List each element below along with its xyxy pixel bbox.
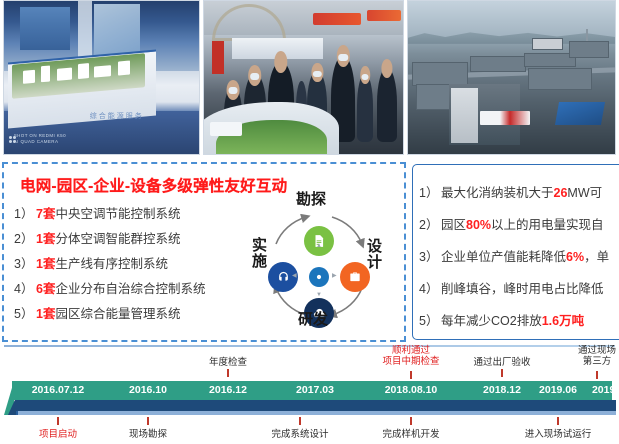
list-item-highlight: 1套: [36, 232, 55, 246]
list-item-text-pre: 园区: [441, 218, 466, 232]
list-item: 5）1套园区综合能量管理系统: [14, 302, 244, 327]
timeline-date: 2017.03: [296, 384, 334, 396]
cycle-label-top: 勘探: [296, 192, 326, 208]
list-item-highlight: 80%: [466, 218, 491, 232]
slide-canvas: 综合能源服务 SHOT ON REDMI K50AI QUAD CAMERA: [0, 0, 619, 444]
booth-sign-text: 综合能源服务: [90, 111, 144, 121]
node-briefcase-icon: [340, 262, 370, 292]
list-item-text-pre: 企业单位产值能耗降低: [441, 250, 566, 264]
timeline-label-below: 进入现场试运行: [525, 429, 592, 440]
timeline-bar-shadow-edge: [16, 411, 616, 415]
right-outlined-panel: 1）最大化消纳装机大于26MW可 2）园区80%以上的用电量实现自 3）企业单位…: [412, 164, 619, 340]
timeline-label-below: 现场勘探: [129, 429, 167, 440]
timeline-label-above: 顺利通过项目中期检查: [382, 345, 439, 367]
list-item-highlight: 7套: [36, 207, 55, 221]
list-item: 3）企业单位产值能耗降低6%，单: [419, 241, 609, 273]
list-item-highlight: 1.6万吨: [542, 314, 584, 328]
timeline-divider: [4, 345, 615, 347]
timeline-date: 2019.06: [539, 384, 577, 396]
list-item-text: 园区综合能量管理系统: [55, 307, 180, 321]
tick-left-icon: ◀: [292, 272, 297, 279]
timeline-date: 2018.08.10: [385, 384, 438, 396]
tick-right-icon: ▶: [332, 272, 337, 279]
timeline-label-below: 完成系统设计: [271, 429, 328, 440]
list-item-text-pre: 最大化消纳装机大于: [441, 186, 554, 200]
cycle-label-right: 设计: [367, 239, 382, 271]
timeline-date: 2016.10: [129, 384, 167, 396]
list-item-number: 3）: [14, 252, 36, 277]
list-item: 3）1套生产线有序控制系统: [14, 252, 244, 277]
timeline-date: 2019.1: [592, 384, 619, 396]
timeline-date: 2018.12: [483, 384, 521, 396]
list-item: 1）最大化消纳装机大于26MW可: [419, 177, 609, 209]
list-item-text-post: 以上的用电量实现自: [491, 218, 604, 232]
left-panel-list: 1）7套中央空调节能控制系统 2）1套分体空调智能群控系统 3）1套生产线有序控…: [14, 202, 244, 327]
list-item-text: 分体空调智能群控系统: [55, 232, 180, 246]
list-item: 5）每年减少CO2排放1.6万吨: [419, 305, 609, 337]
list-item-number: 5）: [14, 302, 36, 327]
right-panel-list: 1）最大化消纳装机大于26MW可 2）园区80%以上的用电量实现自 3）企业单位…: [419, 177, 609, 337]
list-item-highlight: 6%: [566, 250, 584, 264]
list-item-number: 1）: [14, 202, 36, 227]
timeline-label-below: 完成样机开发: [382, 429, 439, 440]
photo-leaders-site-visit: [203, 0, 404, 155]
list-item-number: 2）: [14, 227, 36, 252]
photo-exhibition-hall-model: 综合能源服务 SHOT ON REDMI K50AI QUAD CAMERA: [3, 0, 200, 155]
timeline-label-above: 通过现场第三方: [578, 345, 616, 367]
list-item: 1）7套中央空调节能控制系统: [14, 202, 244, 227]
list-item-text-pre: 削峰填谷，峰时用电占比降低: [441, 282, 604, 296]
list-item-text: 中央空调节能控制系统: [55, 207, 180, 221]
list-item-number: 4）: [14, 277, 36, 302]
list-item-highlight: 1套: [36, 257, 55, 271]
photo-row: 综合能源服务 SHOT ON REDMI K50AI QUAD CAMERA: [0, 0, 619, 158]
timeline-label-above: 年度检查: [209, 357, 247, 368]
cycle-hub: ▲ ▼ ◀ ▶: [288, 246, 350, 308]
list-item-number: 2）: [419, 209, 441, 241]
timeline-label-below: 项目启动: [39, 429, 77, 440]
node-center-hub-icon: [309, 267, 329, 287]
tick-down-icon: ▼: [316, 292, 322, 298]
middle-section: 电网-园区-企业-设备多级弹性友好互动 1）7套中央空调节能控制系统 2）1套分…: [0, 160, 619, 345]
cycle-label-left: 实施: [252, 238, 267, 270]
photo-industrial-park-aerial: [407, 0, 616, 155]
node-document-icon: [304, 226, 334, 256]
camera-watermark-text: SHOT ON REDMI K50AI QUAD CAMERA: [14, 133, 66, 145]
list-item: 4）6套企业分布自治综合控制系统: [14, 277, 244, 302]
list-item-text: 企业分布自治综合控制系统: [55, 282, 205, 296]
list-item-number: 1）: [419, 177, 441, 209]
list-item-highlight: 6套: [36, 282, 55, 296]
list-item-number: 5）: [419, 305, 441, 337]
list-item: 2）园区80%以上的用电量实现自: [419, 209, 609, 241]
list-item-number: 4）: [419, 273, 441, 305]
timeline-bar-shadow: [16, 400, 616, 411]
tick-up-icon: ▲: [316, 243, 322, 249]
list-item-highlight: 26: [554, 186, 568, 200]
project-timeline: 年度检查 顺利通过项目中期检查 通过出厂验收 通过现场第三方 2016.07.1…: [0, 345, 619, 444]
list-item: 2）1套分体空调智能群控系统: [14, 227, 244, 252]
timeline-label-above: 通过出厂验收: [473, 357, 530, 368]
timeline-date: 2016.07.12: [32, 384, 85, 396]
list-item-text-pre: 每年减少CO2排放: [441, 314, 542, 328]
cycle-diagram: ▲ ▼ ◀ ▶ 勘探 设计 研发 实施: [236, 192, 402, 338]
list-item: 4）削峰填谷，峰时用电占比降低: [419, 273, 609, 305]
cycle-label-bottom: 研发: [298, 312, 328, 328]
list-item-text-post: MW可: [567, 186, 602, 200]
left-dashed-panel: 电网-园区-企业-设备多级弹性友好互动 1）7套中央空调节能控制系统 2）1套分…: [2, 162, 406, 342]
timeline-date: 2016.12: [209, 384, 247, 396]
list-item-highlight: 1套: [36, 307, 55, 321]
list-item-text-post: ，单: [584, 250, 609, 264]
list-item-number: 3）: [419, 241, 441, 273]
list-item-text: 生产线有序控制系统: [55, 257, 168, 271]
